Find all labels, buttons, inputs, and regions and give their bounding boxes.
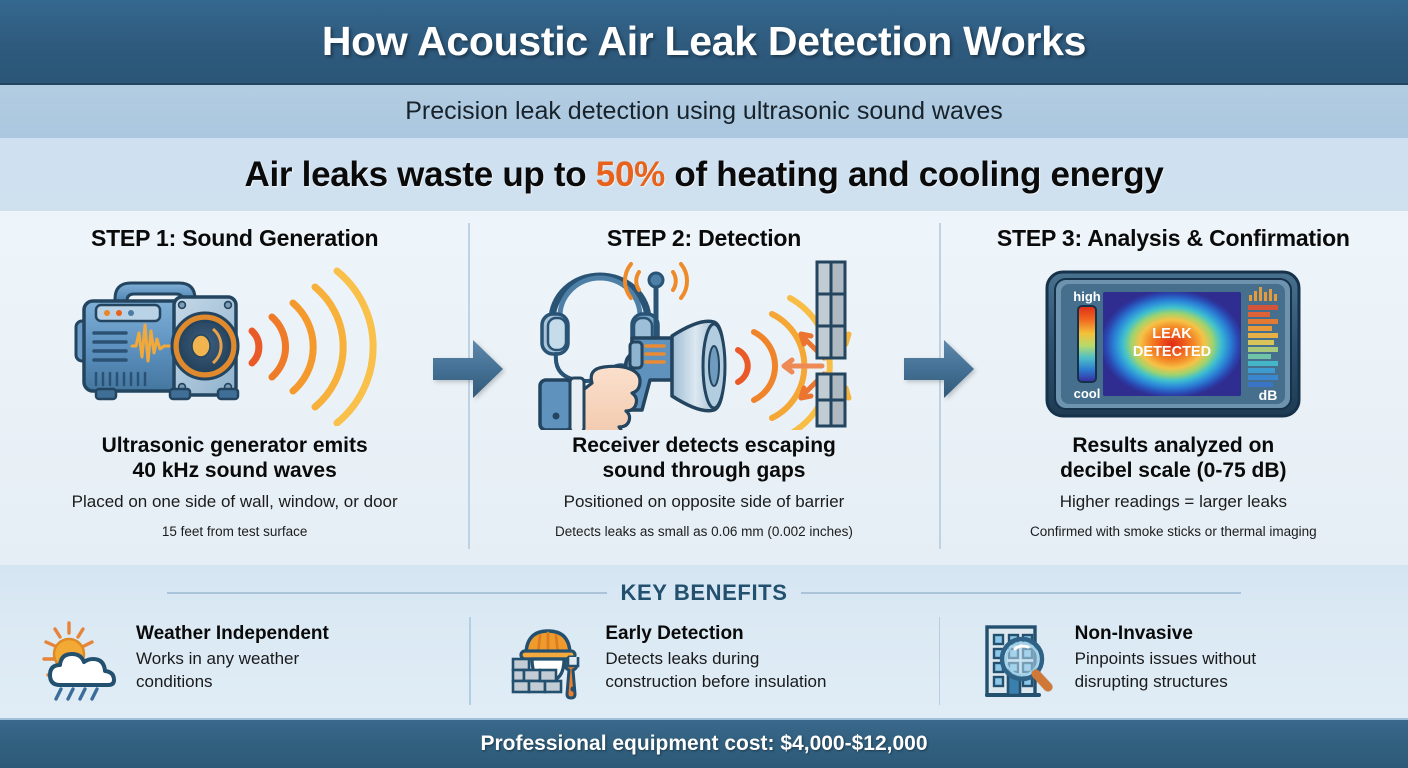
- subtitle-band: Precision leak detection using ultrasoni…: [0, 85, 1408, 138]
- benefit-3-desc-line2: disrupting structures: [1075, 671, 1256, 692]
- page-header: How Acoustic Air Leak Detection Works: [0, 0, 1408, 85]
- step-2-illustration: [534, 256, 874, 431]
- step-1-title: STEP 1: Sound Generation: [91, 225, 378, 252]
- ultrasonic-generator-icon: [70, 261, 400, 426]
- flow-arrow-1: [431, 338, 505, 400]
- scale-cool-label: cool: [1074, 386, 1101, 401]
- benefit-1-desc-line1: Works in any weather: [136, 648, 329, 669]
- flow-arrow-2: [902, 338, 976, 400]
- stat-highlight: 50%: [596, 155, 665, 194]
- benefit-2-desc-line2: construction before insulation: [605, 671, 826, 692]
- alert-line-2: DETECTED: [1133, 344, 1211, 360]
- benefit-3-desc-line1: Pinpoints issues without: [1075, 648, 1256, 669]
- benefits-header: KEY BENEFITS: [0, 580, 1408, 606]
- benefits-divider-left: [167, 592, 607, 594]
- step-1-sub: Placed on one side of wall, window, or d…: [72, 492, 398, 512]
- benefits-list: Weather Independent Works in any weather…: [0, 607, 1408, 717]
- building-magnifier-icon: [977, 619, 1059, 701]
- benefit-3-text: Non-Invasive Pinpoints issues without di…: [1075, 619, 1256, 692]
- page-title: How Acoustic Air Leak Detection Works: [322, 18, 1086, 65]
- step-2-note: Detects leaks as small as 0.06 mm (0.002…: [555, 524, 853, 539]
- step-2-main-line1: Receiver detects escaping: [572, 433, 836, 458]
- step-1-main-line1: Ultrasonic generator emits: [102, 433, 368, 458]
- benefits-divider-right: [801, 592, 1241, 594]
- ultrasonic-receiver-icon: [534, 258, 874, 430]
- weather-sun-cloud-rain-icon: [38, 619, 120, 701]
- step-1-note: 15 feet from test surface: [162, 524, 308, 539]
- step-3-illustration: high cool LEAK DETECTED: [1045, 256, 1301, 431]
- step-3-note: Confirmed with smoke sticks or thermal i…: [1030, 524, 1317, 539]
- benefit-1-text: Weather Independent Works in any weather…: [136, 619, 329, 692]
- scale-high-label: high: [1074, 289, 1101, 304]
- stat-suffix: of heating and cooling energy: [665, 155, 1164, 194]
- page-subtitle: Precision leak detection using ultrasoni…: [405, 97, 1003, 126]
- benefits-title: KEY BENEFITS: [621, 580, 788, 606]
- step-2-main: Receiver detects escaping sound through …: [572, 433, 836, 483]
- benefit-1-desc-line2: conditions: [136, 671, 329, 692]
- benefit-early-detection: Early Detection Detects leaks during con…: [469, 607, 938, 717]
- arrow-right-icon: [431, 338, 505, 400]
- benefit-2-title: Early Detection: [605, 623, 826, 646]
- benefit-divider-2: [939, 617, 941, 705]
- benefit-3-title: Non-Invasive: [1075, 623, 1256, 646]
- benefits-section: KEY BENEFITS: [0, 565, 1408, 718]
- footer-cost-text: Professional equipment cost: $4,000-$12,…: [480, 732, 927, 756]
- benefit-non-invasive: Non-Invasive Pinpoints issues without di…: [939, 607, 1408, 717]
- step-2-sub: Positioned on opposite side of barrier: [564, 492, 845, 512]
- thermal-display-icon: high cool LEAK DETECTED: [1045, 268, 1301, 420]
- step-2-main-line2: sound through gaps: [572, 458, 836, 483]
- benefit-weather-independent: Weather Independent Works in any weather…: [0, 607, 469, 717]
- stat-prefix: Air leaks waste up to: [245, 155, 596, 194]
- page-footer: Professional equipment cost: $4,000-$12,…: [0, 718, 1408, 768]
- step-3-title: STEP 3: Analysis & Confirmation: [997, 225, 1350, 252]
- step-3-sub: Higher readings = larger leaks: [1060, 492, 1287, 512]
- benefit-2-desc-line1: Detects leaks during: [605, 648, 826, 669]
- arrow-right-icon: [902, 338, 976, 400]
- step-3: STEP 3: Analysis & Confirmation: [939, 211, 1408, 565]
- step-1-main: Ultrasonic generator emits 40 kHz sound …: [102, 433, 368, 483]
- steps-section: STEP 1: Sound Generation: [0, 211, 1408, 565]
- step-2-title: STEP 2: Detection: [607, 225, 801, 252]
- stat-band: Air leaks waste up to 50% of heating and…: [0, 138, 1408, 211]
- db-label: dB: [1259, 387, 1278, 403]
- stat-headline: Air leaks waste up to 50% of heating and…: [245, 155, 1164, 195]
- alert-line-1: LEAK: [1153, 326, 1193, 342]
- benefit-1-title: Weather Independent: [136, 623, 329, 646]
- step-3-main: Results analyzed on decibel scale (0-75 …: [1060, 433, 1286, 483]
- step-1-illustration: [70, 256, 400, 431]
- step-2: STEP 2: Detection: [469, 211, 938, 565]
- step-3-main-line1: Results analyzed on: [1060, 433, 1286, 458]
- hardhat-brick-wrench-icon: [507, 619, 589, 701]
- benefit-divider-1: [469, 617, 471, 705]
- step-1-main-line2: 40 kHz sound waves: [102, 458, 368, 483]
- step-3-main-line2: decibel scale (0-75 dB): [1060, 458, 1286, 483]
- infographic-page: How Acoustic Air Leak Detection Works Pr…: [0, 0, 1408, 768]
- step-1: STEP 1: Sound Generation: [0, 211, 469, 565]
- benefit-2-text: Early Detection Detects leaks during con…: [605, 619, 826, 692]
